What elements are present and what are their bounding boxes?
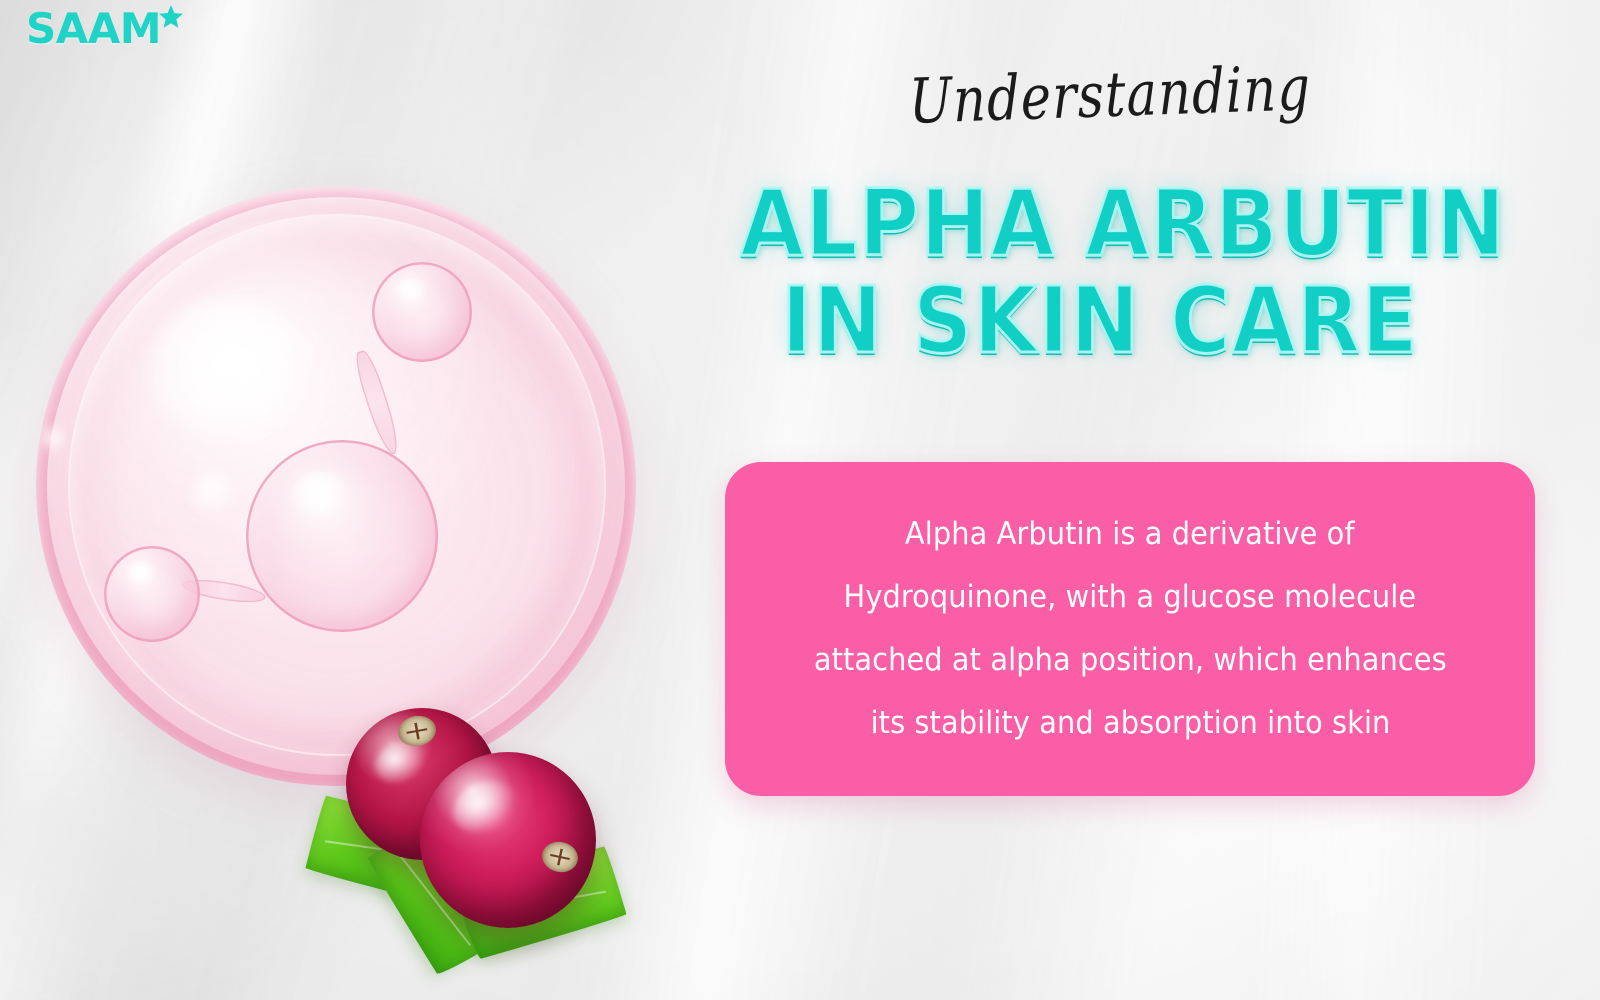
bubble-center (246, 440, 438, 632)
page-title: ALPHA ARBUTINALPHA ARBUTIN IN SKIN CAREI… (700, 178, 1500, 366)
cranberry-front (420, 752, 596, 928)
bubble-bottom-left (104, 546, 200, 642)
bubble-top-right (372, 262, 472, 362)
description-line: attached at alpha position, which enhanc… (814, 645, 1447, 676)
description-card: Alpha Arbutin is a derivative of Hydroqu… (725, 462, 1535, 796)
poster-canvas: SAAM (0, 0, 1600, 1000)
product-visual (28, 178, 638, 818)
description-line: Hydroquinone, with a glucose molecule (844, 582, 1417, 613)
star-icon (158, 4, 184, 30)
headline-inline-stroke: ALPHA ARBUTIN (740, 178, 1460, 269)
content-column: Understanding ALPHA ARBUTINALPHA ARBUTIN… (700, 0, 1580, 1000)
cranberry-group (310, 690, 640, 1000)
brand-logo[interactable]: SAAM (26, 8, 184, 50)
description-line: its stability and absorption into skin (870, 708, 1390, 739)
headline-line-2: IN SKIN CAREIN SKIN CARE (740, 275, 1460, 366)
headline-inline-stroke: IN SKIN CARE (740, 275, 1460, 366)
eyebrow-script: Understanding (773, 47, 1447, 143)
description-line: Alpha Arbutin is a derivative of (905, 519, 1355, 550)
headline-line-1: ALPHA ARBUTINALPHA ARBUTIN (740, 178, 1460, 269)
brand-logo-text: SAAM (26, 8, 161, 50)
